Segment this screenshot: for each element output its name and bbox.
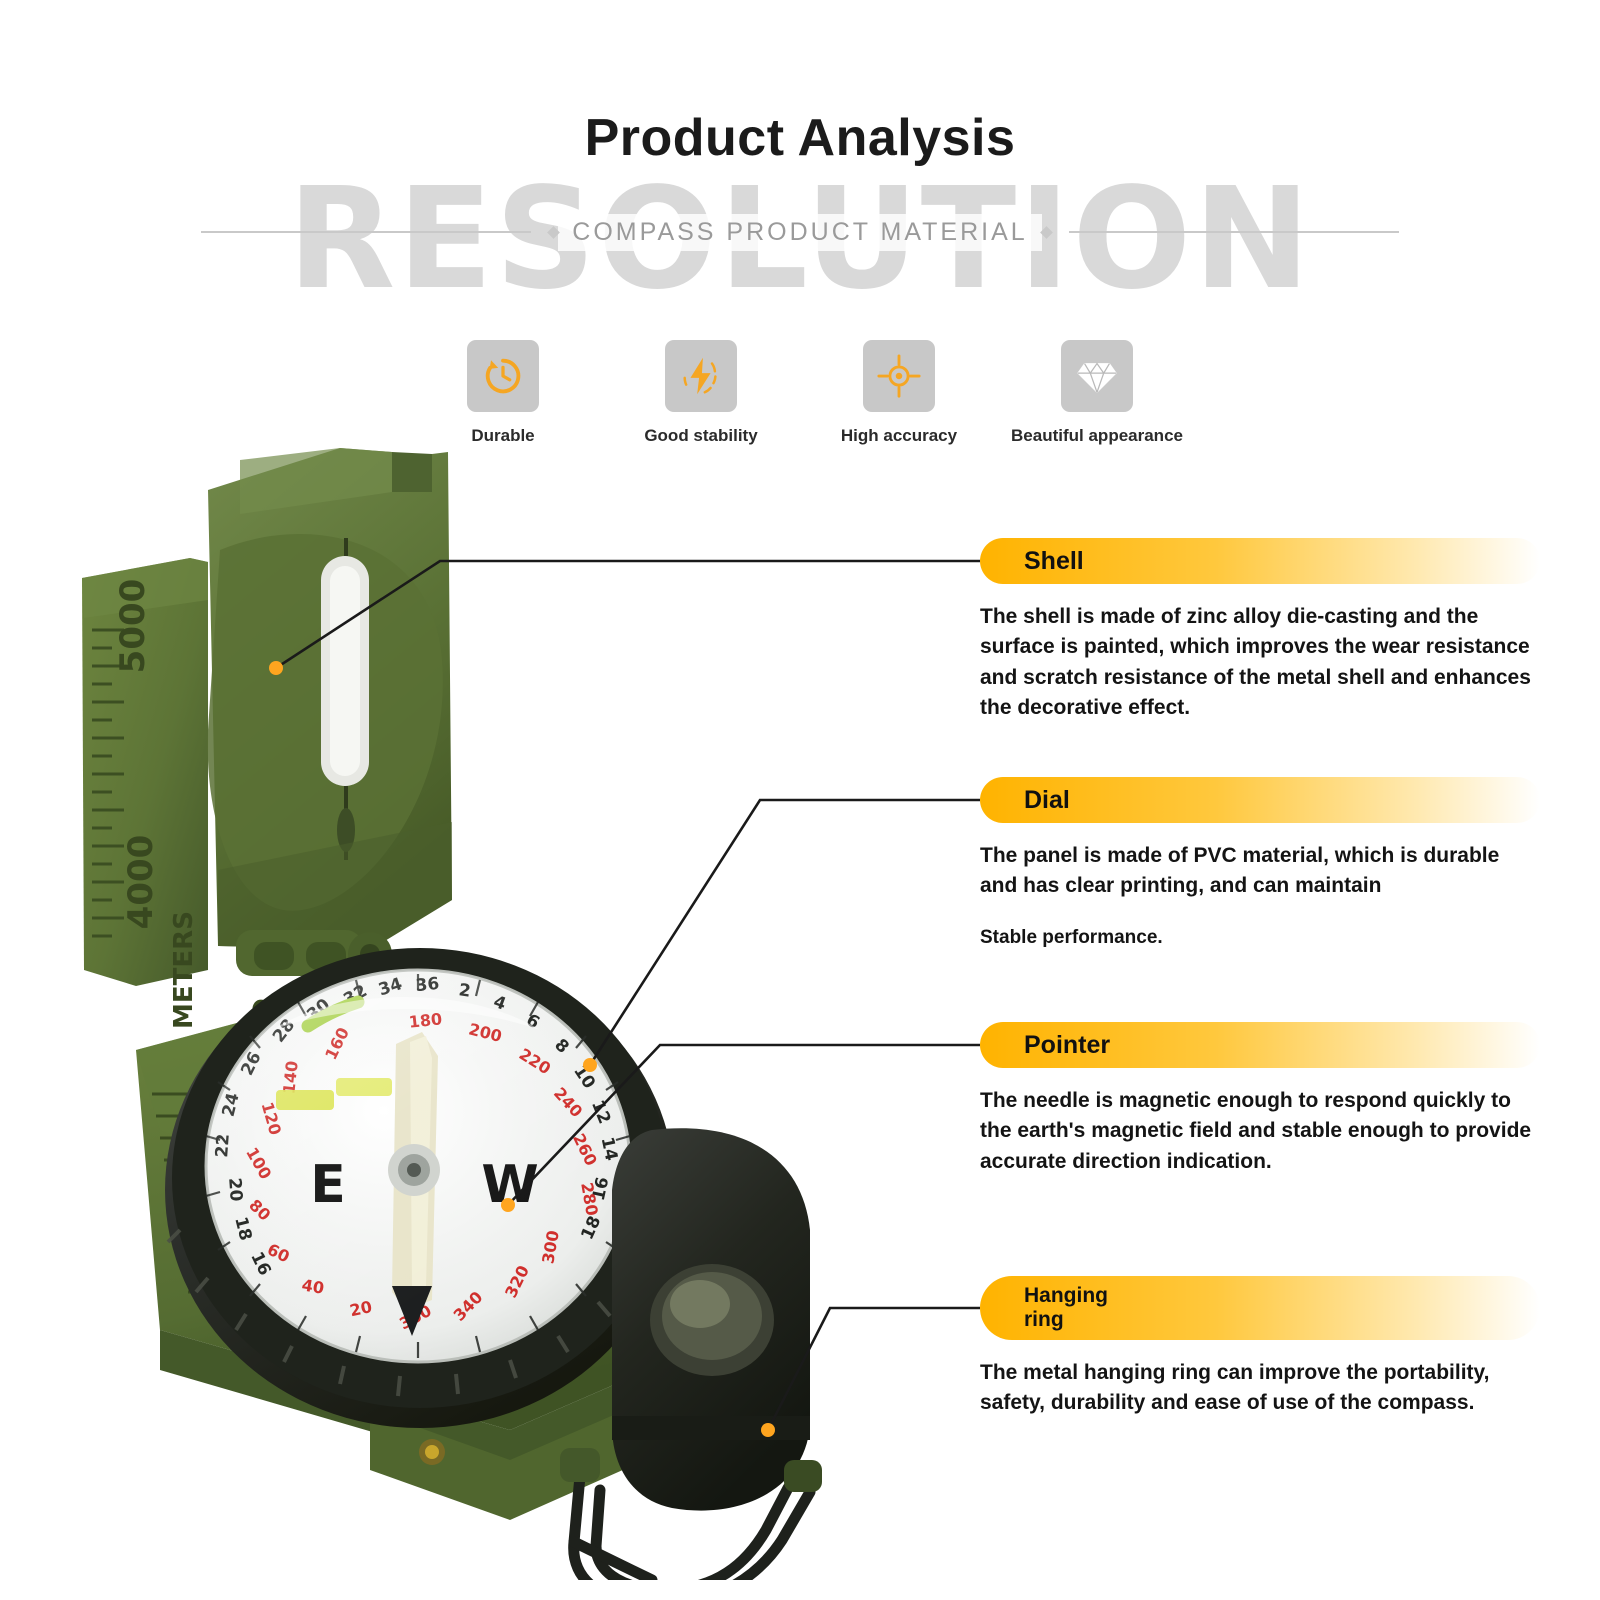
callout-pill-hanging-ring[interactable]: Hanging ring [980,1276,1540,1340]
feature-durable: Durable [423,340,583,446]
diamond-icon [1061,340,1133,412]
product-image-compass: 5000 4000 METERS [40,430,960,1580]
compass-dial-assembly: 28 30 32 34 36 2 4 6 8 10 12 14 26 24 22… [165,948,675,1428]
compass-ruler-wing: 5000 4000 METERS [82,558,208,1029]
callout-dial: Dial The panel is made of PVC material, … [980,777,1540,951]
callout-body-secondary: Stable performance. [980,924,1540,952]
callout-dot-dial [583,1058,597,1072]
compass-lens-arm [612,1128,810,1510]
divider-diamond-right [1040,226,1053,239]
svg-text:5000: 5000 [113,579,153,674]
callout-body: The shell is made of zinc alloy die-cast… [980,602,1540,724]
callout-dot-pointer [501,1198,515,1212]
callout-dot-hanging-ring [761,1423,775,1437]
feature-label: Durable [471,426,534,446]
callout-dot-shell [269,661,283,675]
callout-label: Pointer [1024,1031,1110,1060]
callout-pill-dial[interactable]: Dial [980,777,1540,823]
divider-right [1069,231,1399,233]
divider-left [201,231,531,233]
page-header: RESOLUTION Product Analysis COMPASS PROD… [0,0,1600,320]
page-subtitle: COMPASS PRODUCT MATERIAL [558,214,1041,251]
callout-pill-shell[interactable]: Shell [980,538,1540,584]
crosshair-target-icon [863,340,935,412]
feature-label: Good stability [644,426,757,446]
feature-beautiful-appearance: Beautiful appearance [1017,340,1177,446]
lightning-bolt-icon [665,340,737,412]
feature-icon-row: Durable Good stability [0,340,1600,470]
compass-lid [208,448,452,950]
callout-pill-pointer[interactable]: Pointer [980,1022,1540,1068]
callout-shell: Shell The shell is made of zinc alloy di… [980,538,1540,724]
callout-label: Shell [1024,547,1084,576]
feature-label: High accuracy [841,426,957,446]
clock-icon [467,340,539,412]
feature-high-accuracy: High accuracy [819,340,979,446]
callout-label: Hanging ring [1024,1284,1108,1331]
callout-hanging-ring: Hanging ring The metal hanging ring can … [980,1276,1540,1419]
svg-text:METERS: METERS [169,911,199,1029]
feature-label: Beautiful appearance [1011,426,1183,446]
callout-label: Dial [1024,786,1070,815]
callout-body: The panel is made of PVC material, which… [980,841,1540,902]
page-title: Product Analysis [0,108,1600,168]
callout-pointer: Pointer The needle is magnetic enough to… [980,1022,1540,1177]
svg-text:4000: 4000 [121,835,161,930]
subtitle-row: COMPASS PRODUCT MATERIAL [0,212,1600,252]
callout-body: The needle is magnetic enough to respond… [980,1086,1540,1177]
feature-good-stability: Good stability [621,340,781,446]
callout-body: The metal hanging ring can improve the p… [980,1358,1540,1419]
